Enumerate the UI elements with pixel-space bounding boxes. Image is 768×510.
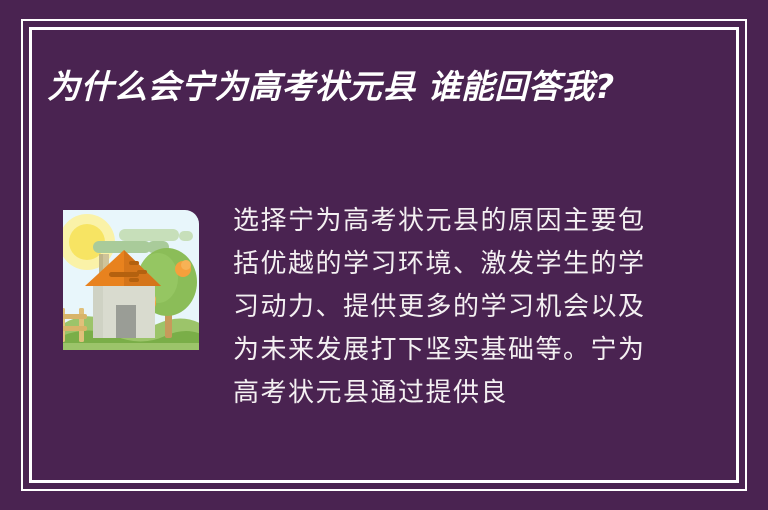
poster-canvas: 为什么会宁为高考状元县 谁能回答我? xyxy=(0,0,768,510)
countryside-house-illustration xyxy=(57,200,205,358)
content-area: 选择宁为高考状元县的原因主要包括优越的学习环境、激发学生的学习动力、提供更多的学… xyxy=(47,196,721,470)
body-paragraph: 选择宁为高考状元县的原因主要包括优越的学习环境、激发学生的学习动力、提供更多的学… xyxy=(233,200,658,415)
page-title: 为什么会宁为高考状元县 谁能回答我? xyxy=(47,64,647,110)
